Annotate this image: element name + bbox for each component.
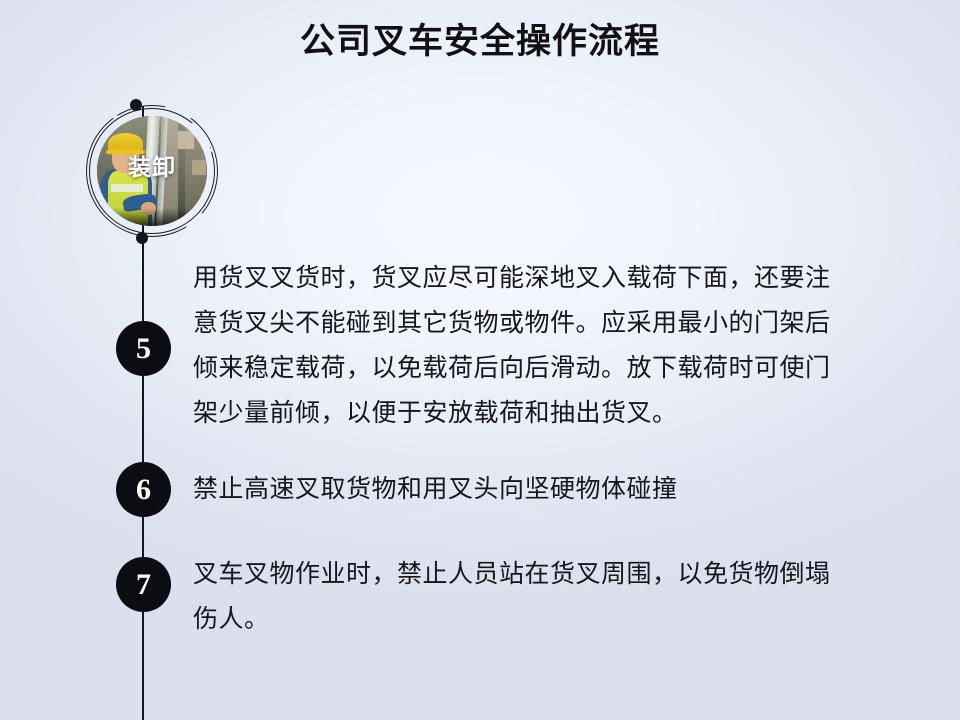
page-title: 公司叉车安全操作流程 bbox=[0, 20, 960, 64]
photo-cargo-box-1 bbox=[178, 131, 193, 149]
step-7-line-2: 伤人。 bbox=[193, 597, 903, 642]
step-text-7: 叉车叉物作业时，禁止人员站在货叉周围，以免货物倒塌 伤人。 bbox=[193, 552, 903, 642]
timeline-node-dot-top bbox=[130, 99, 142, 111]
step-badge-5[interactable]: 5 bbox=[116, 321, 171, 376]
step-badge-7[interactable]: 7 bbox=[116, 557, 171, 612]
medallion-photo-node: 装卸 bbox=[86, 104, 218, 242]
photo-vignette bbox=[97, 208, 207, 226]
step-5-line-2: 意货叉尖不能碰到其它货物或物件。应采用最小的门架后 bbox=[193, 301, 903, 346]
step-7-line-1: 叉车叉物作业时，禁止人员站在货叉周围，以免货物倒塌 bbox=[193, 552, 903, 597]
photo-vest-reflective-stripe bbox=[111, 184, 143, 192]
step-5-line-1: 用货叉叉货时，货叉应尽可能深地叉入载荷下面，还要注 bbox=[193, 256, 903, 301]
medallion-label: 装卸 bbox=[86, 148, 218, 182]
step-5-line-4: 架少量前倾，以便于安放载荷和抽出货叉。 bbox=[193, 391, 903, 436]
step-text-5: 用货叉叉货时，货叉应尽可能深地叉入载荷下面，还要注 意货叉尖不能碰到其它货物或物… bbox=[193, 256, 903, 436]
step-text-6: 禁止高速叉取货物和用叉头向坚硬物体碰撞 bbox=[193, 467, 903, 512]
step-6-line-1: 禁止高速叉取货物和用叉头向坚硬物体碰撞 bbox=[193, 467, 903, 512]
timeline-node-dot-bottom bbox=[136, 232, 148, 244]
slide-canvas: 公司叉车安全操作流程 装卸 5 用货叉叉货时，货叉应尽可能深 bbox=[0, 0, 960, 720]
step-badge-6[interactable]: 6 bbox=[116, 462, 171, 517]
step-5-line-3: 倾来稳定载荷，以免载荷后向后滑动。放下载荷时可使门 bbox=[193, 346, 903, 391]
